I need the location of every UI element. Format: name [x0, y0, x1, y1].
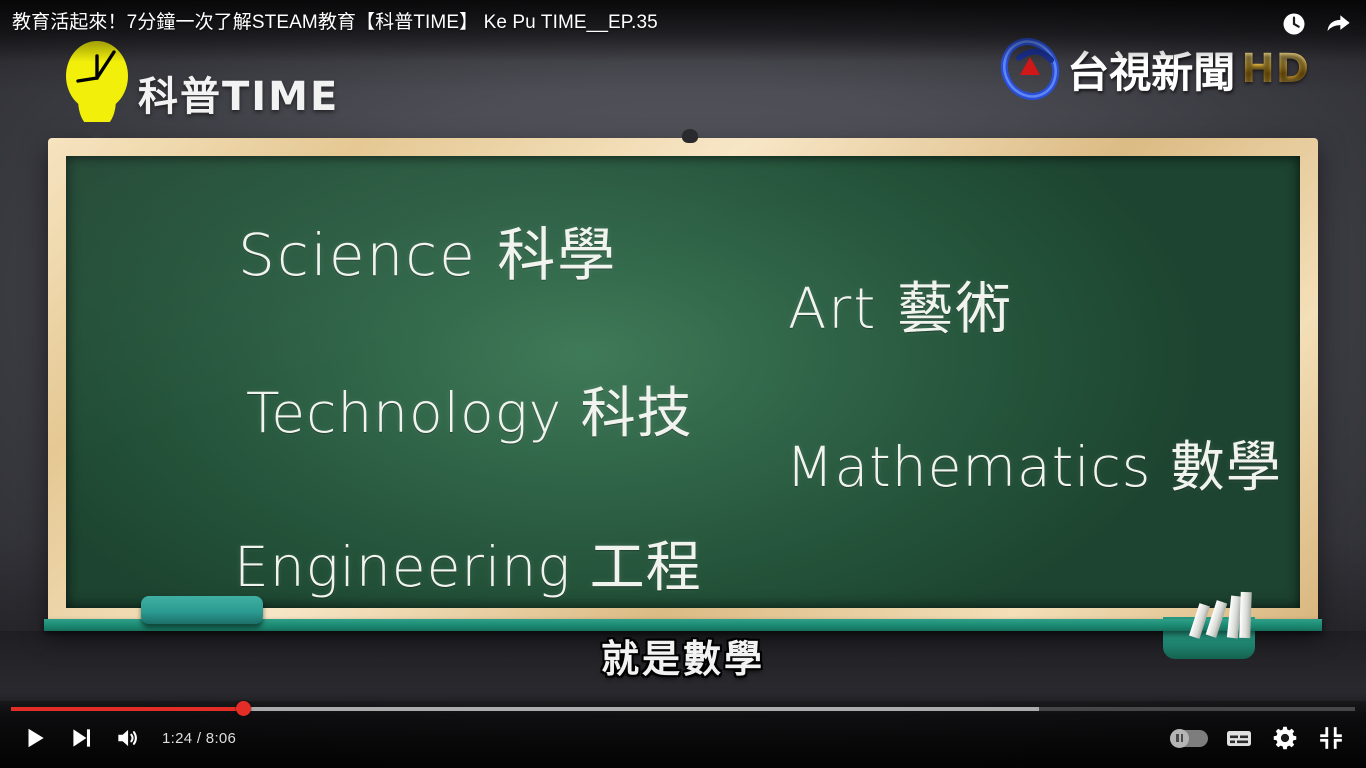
subtitle-overlay: 就是數學 [0, 628, 1366, 683]
video-title: 教育活起來！7分鐘一次了解STEAM教育【科普TIME】 Ke Pu TIME_… [12, 10, 658, 36]
autoplay-knob-pause-icon [1170, 729, 1189, 748]
progress-scrubber[interactable] [236, 701, 251, 716]
settings-button[interactable] [1262, 716, 1308, 760]
controls-right [1162, 716, 1354, 760]
autoplay-toggle[interactable] [1162, 716, 1216, 760]
blackboard-hook [682, 129, 698, 143]
subtitle-text: 就是數學 [601, 628, 765, 683]
progress-bar[interactable] [11, 702, 1355, 716]
controls-left: 1:24 / 8:06 [12, 716, 244, 760]
video-player[interactable]: Science 科學 Technology 科技 Engineering 工程 … [0, 0, 1366, 768]
subtitles-button[interactable] [1216, 716, 1262, 760]
blackboard-surface: Science 科學 Technology 科技 Engineering 工程 … [66, 156, 1300, 608]
time-display: 1:24 / 8:06 [162, 730, 236, 747]
autoplay-track [1170, 730, 1208, 747]
watch-later-icon[interactable] [1280, 10, 1308, 38]
show-logo-text: 科普TIME [138, 64, 339, 122]
chalk-line-mathematics: Mathematics 數學 [786, 422, 1282, 502]
progress-played [11, 707, 244, 711]
player-controls[interactable]: 1:24 / 8:06 [0, 692, 1366, 768]
blackboard-eraser [141, 596, 263, 624]
play-button[interactable] [12, 716, 58, 760]
chalk-line-science: Science 科學 [238, 208, 617, 292]
chalk-line-art: Art 藝術 [788, 264, 1013, 345]
chalk-line-engineering: Engineering 工程 [234, 522, 702, 602]
player-title-bar: 教育活起來！7分鐘一次了解STEAM教育【科普TIME】 Ke Pu TIME_… [0, 0, 1366, 62]
share-icon[interactable] [1324, 10, 1352, 38]
chalk-line-technology: Technology 科技 [246, 368, 693, 448]
blackboard: Science 科學 Technology 科技 Engineering 工程 … [48, 138, 1318, 626]
next-video-button[interactable] [58, 716, 104, 760]
exit-fullscreen-button[interactable] [1308, 716, 1354, 760]
video-stage[interactable]: Science 科學 Technology 科技 Engineering 工程 … [0, 0, 1366, 768]
blackboard-frame: Science 科學 Technology 科技 Engineering 工程 … [48, 138, 1318, 626]
volume-button[interactable] [104, 716, 150, 760]
